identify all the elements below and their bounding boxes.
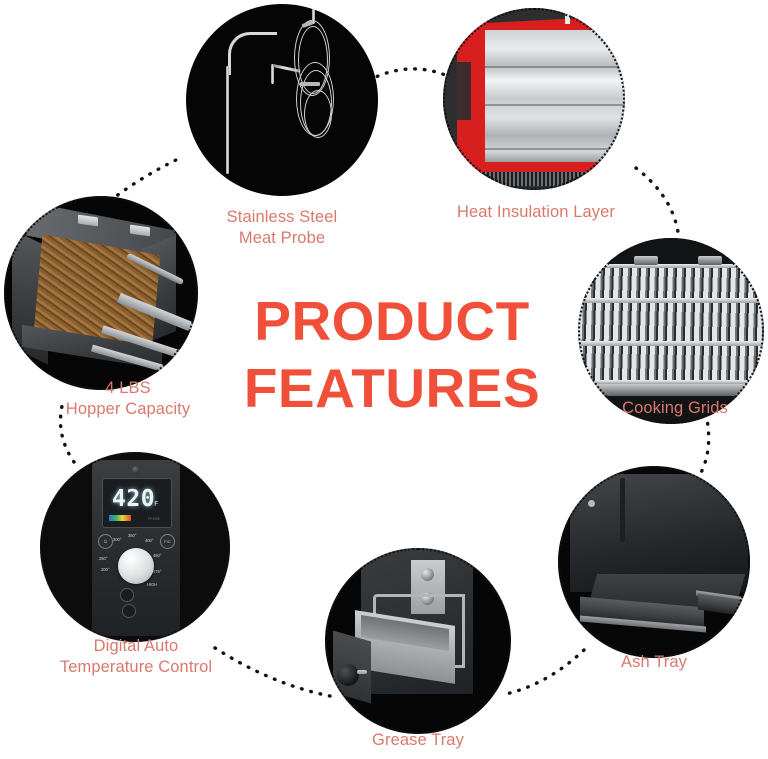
feature-image-ash-tray [558,466,750,658]
feature-label-ash-tray: Ash Tray [584,652,724,673]
page-title: PRODUCT FEATURES [232,288,552,422]
lcd-color-bar [109,515,131,521]
lcd-display: 420 F PROBE [102,478,172,528]
dial-tick-350: 350° [128,533,136,538]
dial-tick-high: HIGH [147,582,157,587]
feature-label-grease-tray: Grease Tray [338,730,498,751]
unit-toggle-button[interactable]: F/C [160,534,175,549]
feature-label-hopper: 4 LBS Hopper Capacity [38,378,218,420]
heat-insulation-photo [443,8,625,190]
panel-screw-icon [132,466,140,474]
dial-tick-250: 250° [99,556,107,561]
power-button[interactable]: ⏻ [98,534,113,549]
dial-tick-450: 450° [153,553,161,558]
feature-label-digital-control: Digital Auto Temperature Control [28,636,244,678]
lcd-temperature-unit: F [154,500,158,508]
temperature-dial[interactable] [118,548,154,584]
dial-tick-400: 400° [145,538,153,543]
feature-label-cooking-grids: Cooking Grids [600,398,750,419]
cooking-grids-photo [578,238,764,424]
feature-image-cooking-grids [578,238,764,424]
connector-insulation-grids [636,168,678,232]
dial-tick-200: 200° [101,567,109,572]
grease-tray-photo [325,548,511,734]
feature-image-heat-insulation [443,8,625,190]
feature-image-digital-control: 420 F PROBE ⏻ F/C 200° 250° 300° 350° 40… [40,452,230,642]
aux-control-upper[interactable] [120,588,134,602]
meat-probe-photo [186,4,378,196]
ash-tray-photo [558,466,750,658]
feature-image-meat-probe [186,4,378,196]
feature-label-heat-insulation: Heat Insulation Layer [436,202,636,223]
feature-image-hopper [4,196,198,390]
feature-image-grease-tray [325,548,511,734]
aux-control-lower[interactable] [122,604,136,618]
feature-label-meat-probe: Stainless Steel Meat Probe [204,207,360,249]
dial-tick-475: 475° [153,569,161,574]
hopper-photo [4,196,198,390]
lcd-probe-label: PROBE [148,517,160,521]
lcd-temperature-value: 420 [112,486,155,512]
digital-control-photo: 420 F PROBE ⏻ F/C 200° 250° 300° 350° 40… [40,452,230,642]
dial-tick-300: 300° [113,537,121,542]
product-features-infographic: PRODUCT FEATURES Stainless Steel Meat Pr… [0,0,768,759]
